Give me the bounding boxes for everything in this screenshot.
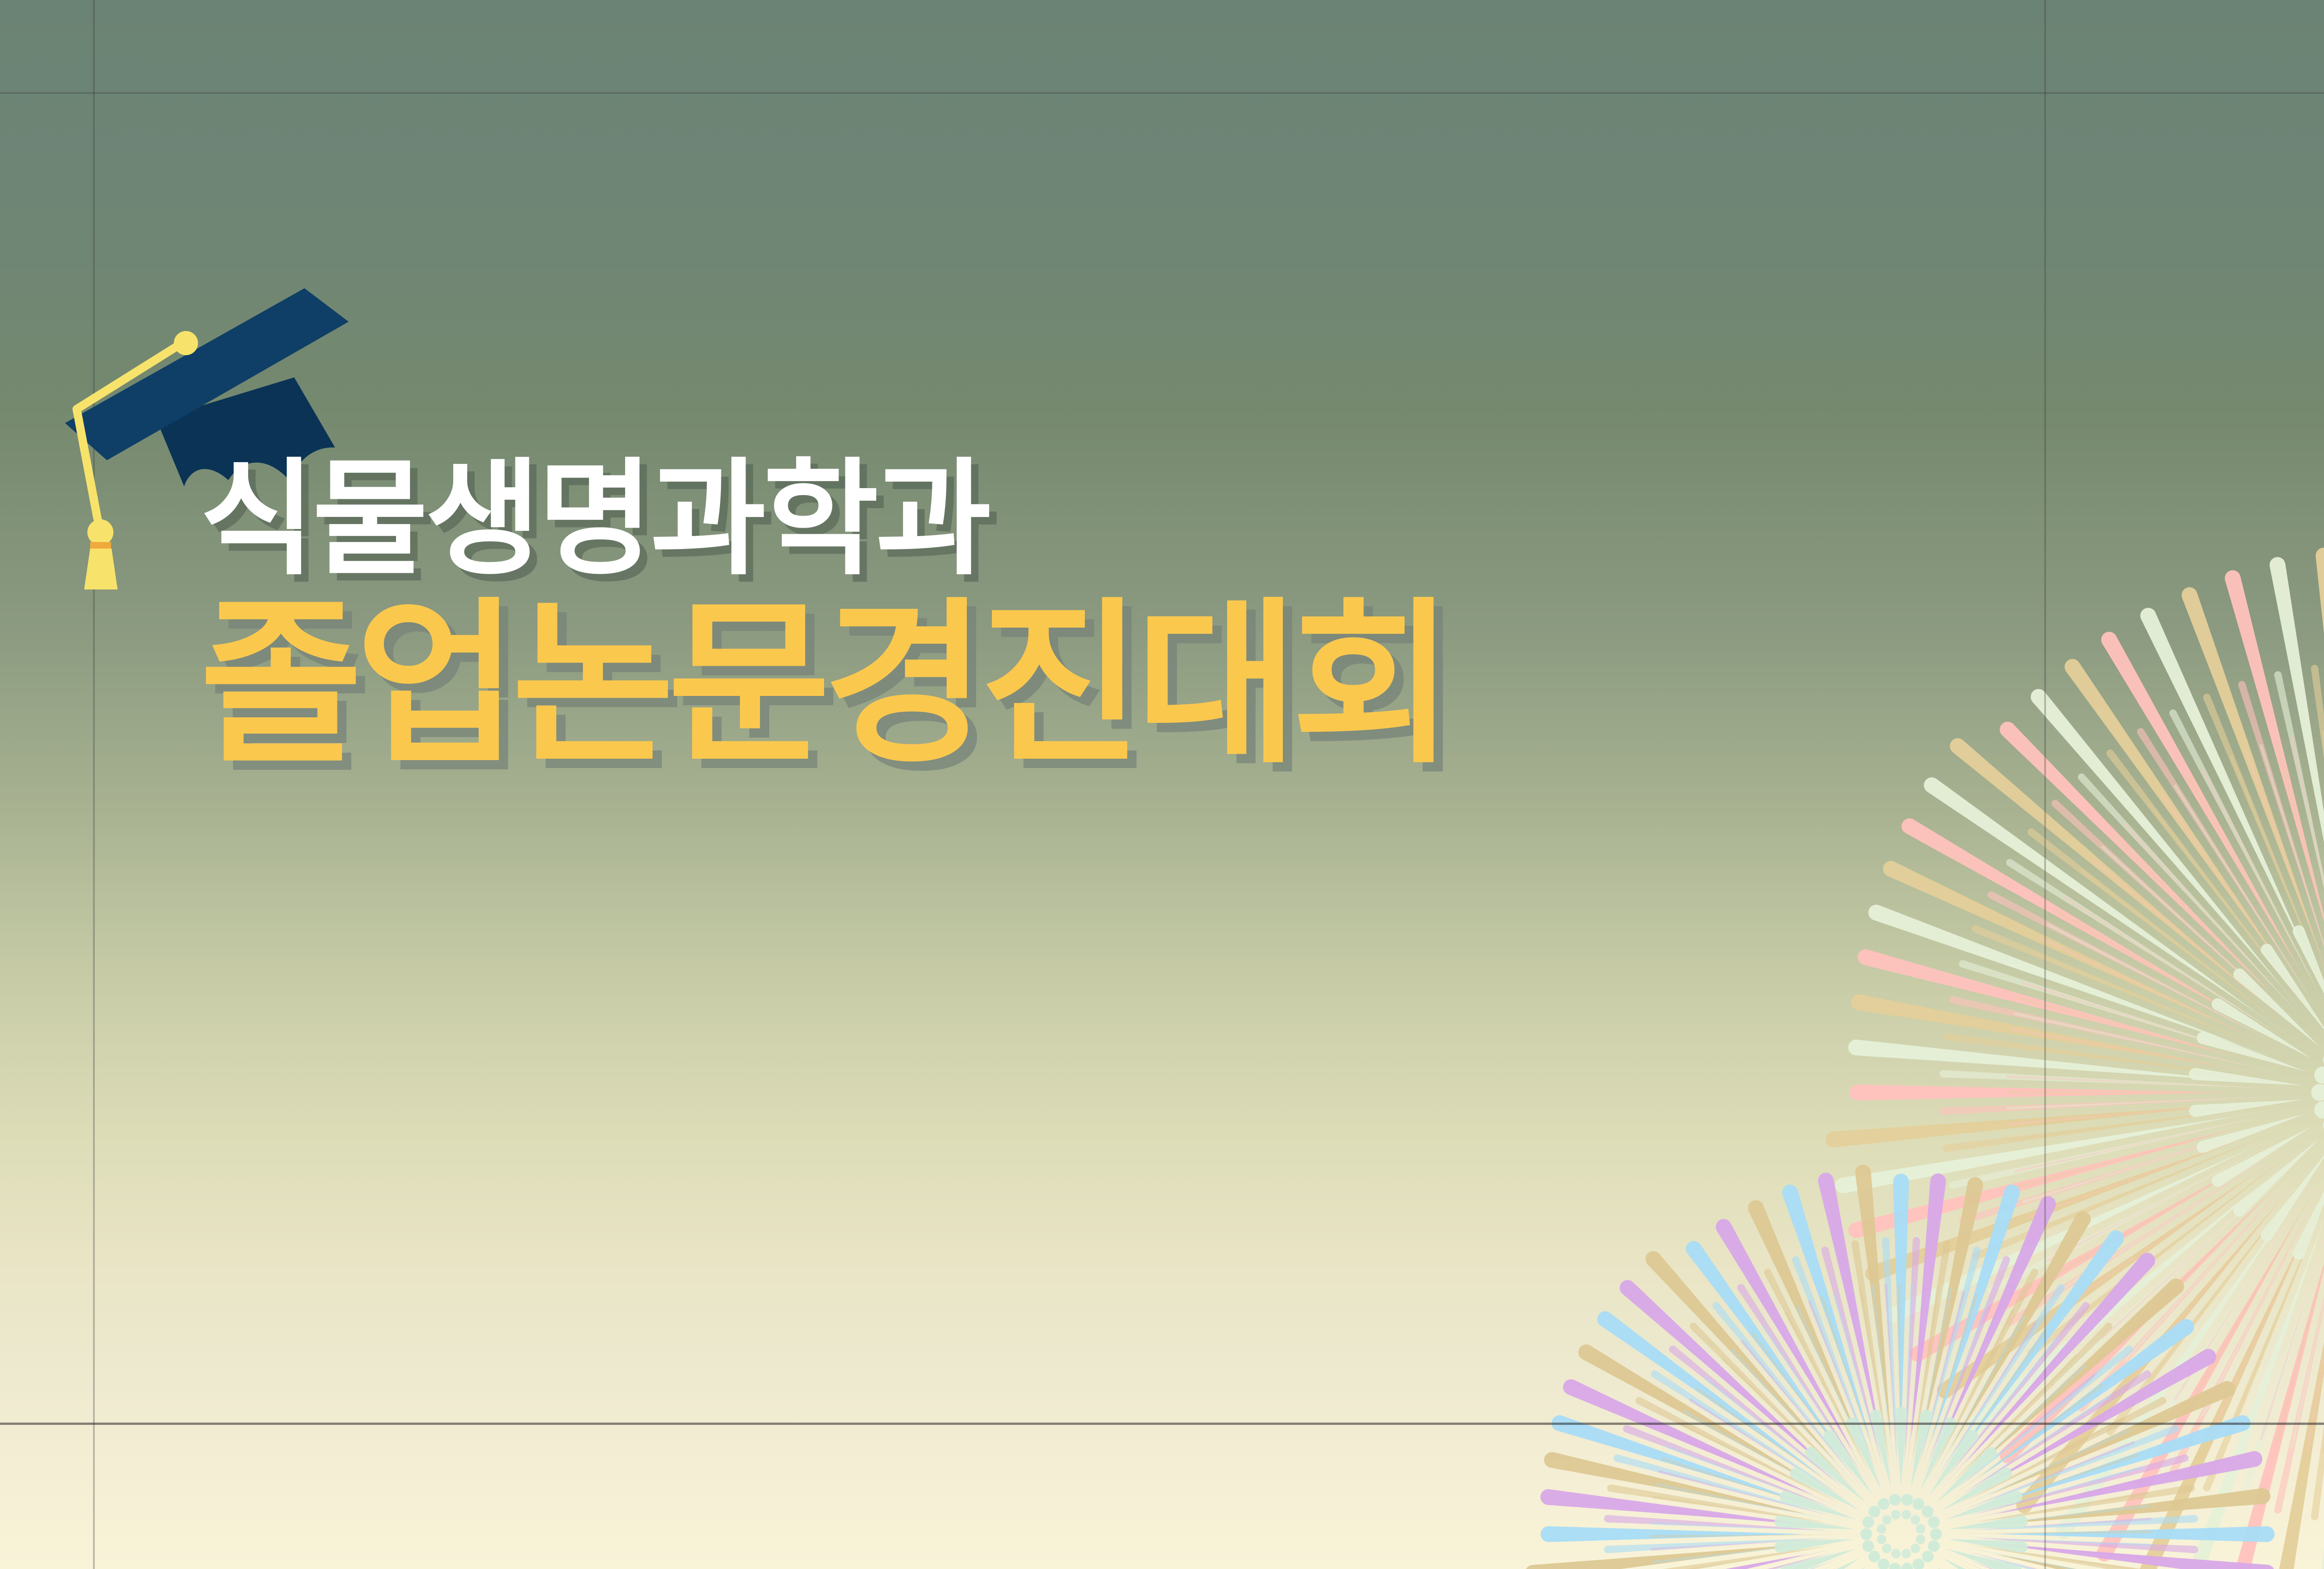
guide-line-vertical-left [93,0,95,1569]
guide-line-horizontal-top [0,92,2324,94]
guide-line-horizontal-bottom [0,1423,2324,1425]
title-block: 식물생명과학과 졸업논문경진대회 [200,453,1448,775]
guide-line-vertical-mid [2044,0,2046,1569]
large-firework [1836,558,2324,1569]
event-title: 졸업논문경진대회 [200,595,1448,775]
department-name: 식물생명과학과 [200,453,1448,586]
presentation-slide: 식물생명과학과 졸업논문경진대회 [0,0,2324,1569]
small-firework [1534,1167,2268,1569]
